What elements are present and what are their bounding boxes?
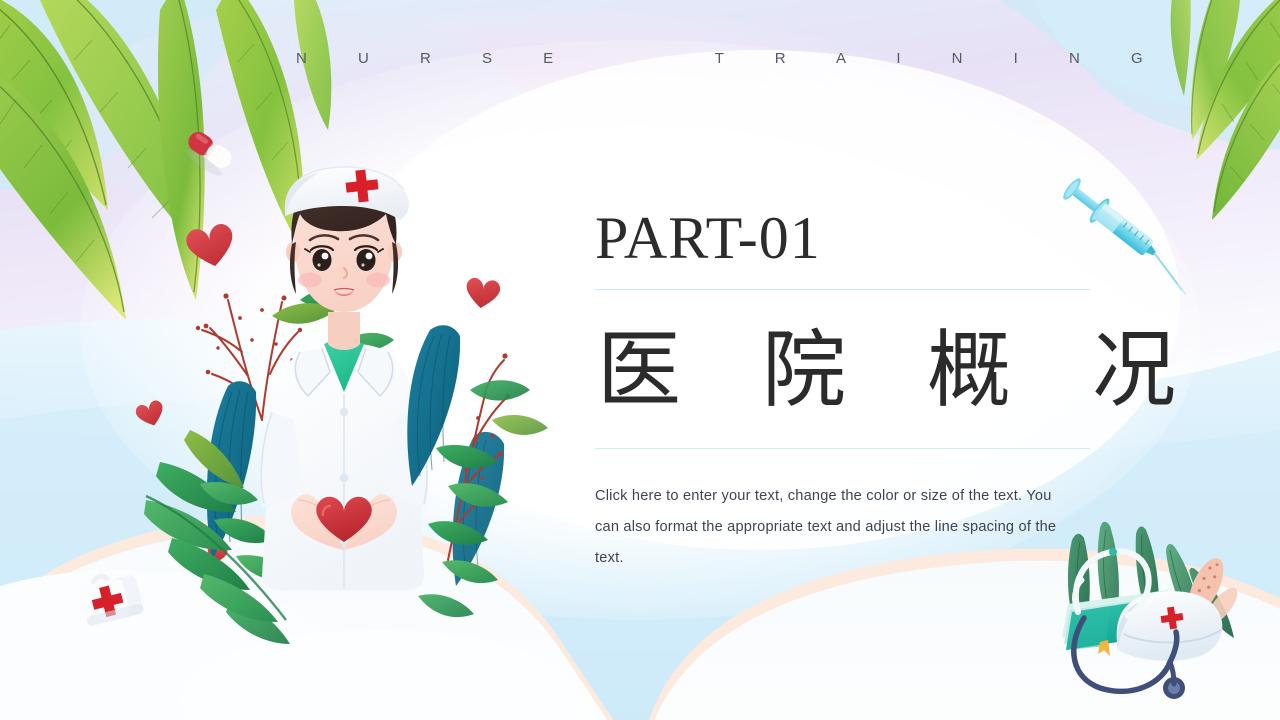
presentation-slide: N U R S E T R A I N I N G [0, 0, 1280, 720]
body-paragraph: Click here to enter your text, change th… [595, 481, 1063, 574]
part-number-label: PART-01 [595, 208, 1090, 268]
page-title: 医 院 概 况 [595, 290, 1090, 448]
slide-content-block: PART-01 医 院 概 况 Click here to enter your… [595, 208, 1090, 574]
cluster-nurse-cap [1117, 591, 1223, 661]
divider-bottom [595, 448, 1090, 449]
